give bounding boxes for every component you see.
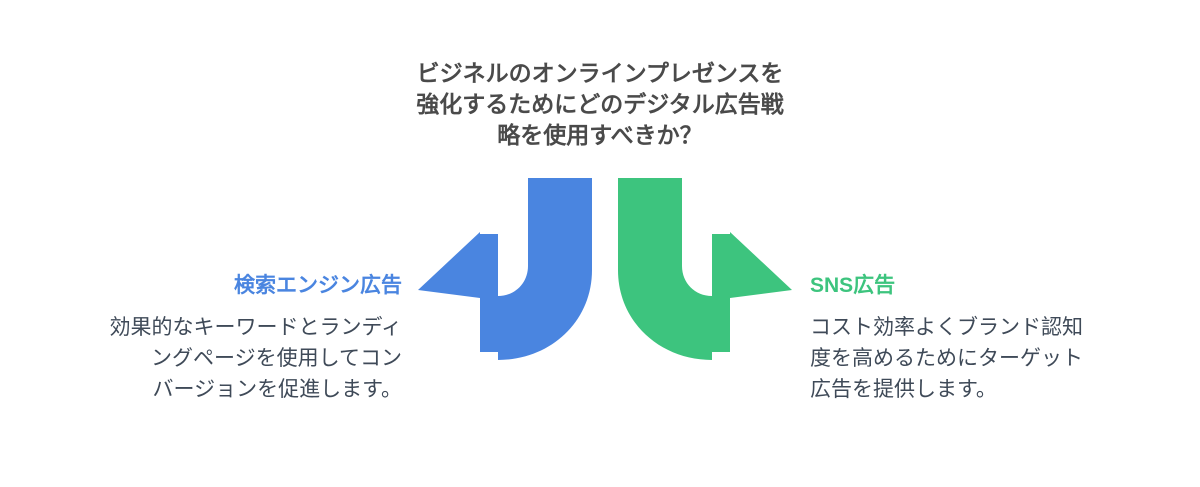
title-line-3: 略を使用すべきか？ xyxy=(350,120,850,151)
branch-left: 検索エンジン広告 効果的なキーワードとランディ ングページを使用してコン バージ… xyxy=(20,272,402,405)
branch-left-body: 効果的なキーワードとランディ ングページを使用してコン バージョンを促進します。 xyxy=(20,312,402,405)
left-arrow-svg xyxy=(410,170,605,365)
diagram-title: ビジネルのオンラインプレゼンスを 強化するためにどのデジタル広告戦 略を使用すべ… xyxy=(350,58,850,151)
branch-left-body-line-1: 効果的なキーワードとランディ xyxy=(20,312,402,343)
branch-left-body-line-3: バージョンを促進します。 xyxy=(20,374,402,405)
curved-arrow-right-icon xyxy=(618,178,792,360)
title-line-1: ビジネルのオンラインプレゼンスを xyxy=(350,58,850,89)
branch-right-body-line-2: 度を高めるためにターゲット xyxy=(810,343,1182,374)
curved-arrow-left-icon xyxy=(418,178,592,360)
branch-right-body-line-3: 広告を提供します。 xyxy=(810,374,1182,405)
branch-right-heading: SNS広告 xyxy=(810,272,1182,300)
branch-left-heading: 検索エンジン広告 xyxy=(20,272,402,300)
branch-right-body-line-1: コスト効率よくブランド認知 xyxy=(810,312,1182,343)
diagram-canvas: ビジネルのオンラインプレゼンスを 強化するためにどのデジタル広告戦 略を使用すべ… xyxy=(0,0,1200,487)
branch-right: SNS広告 コスト効率よくブランド認知 度を高めるためにターゲット 広告を提供し… xyxy=(810,272,1182,405)
right-arrow-svg xyxy=(605,170,800,365)
title-line-2: 強化するためにどのデジタル広告戦 xyxy=(350,89,850,120)
branch-right-body: コスト効率よくブランド認知 度を高めるためにターゲット 広告を提供します。 xyxy=(810,312,1182,405)
branch-left-body-line-2: ングページを使用してコン xyxy=(20,343,402,374)
